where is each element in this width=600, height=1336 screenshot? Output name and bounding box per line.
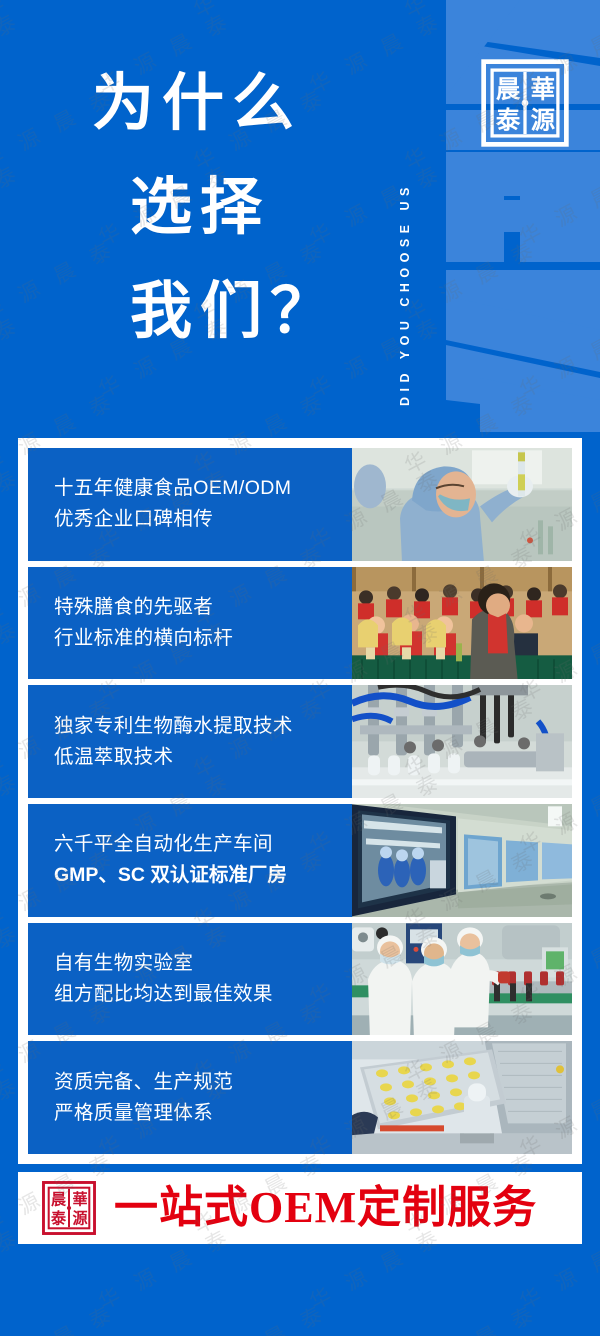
feature-card-text: 资质完备、生产规范 严格质量管理体系	[28, 1041, 352, 1154]
hero-section: 为什么 选择 我们？ DID YOU CHOOSE US 晨 華 泰 源	[0, 0, 600, 432]
feature-line-2: GMP、SC 双认证标准厂房	[54, 860, 340, 891]
feature-line-1: 六千平全自动化生产车间	[54, 829, 340, 860]
feature-line-2: 严格质量管理体系	[54, 1098, 340, 1129]
feature-line-1: 特殊膳食的先驱者	[54, 592, 340, 623]
feature-card[interactable]: 六千平全自动化生产车间 GMP、SC 双认证标准厂房	[28, 804, 572, 917]
svg-text:源: 源	[531, 106, 556, 134]
watermark-text: 华 源 晨 泰	[0, 1296, 122, 1336]
watermark-text: 华 源 晨 泰	[398, 1296, 543, 1336]
svg-text:晨: 晨	[51, 1191, 67, 1209]
feature-line-2: 低温萃取技术	[54, 742, 340, 773]
title-line-2: 选择	[92, 156, 340, 260]
bottom-service-banner: 晨 華 泰 源 一站式OEM定制服务	[18, 1172, 582, 1244]
feature-line-2: 优秀企业口碑相传	[54, 504, 340, 535]
feature-card[interactable]: 特殊膳食的先驱者 行业标准的横向标杆	[28, 567, 572, 680]
svg-text:華: 華	[531, 75, 555, 103]
feature-photo-lab-technician	[352, 448, 572, 561]
banner-seal-logo: 晨 華 泰 源	[40, 1179, 98, 1237]
svg-text:晨: 晨	[496, 76, 521, 103]
svg-text:源: 源	[72, 1210, 87, 1228]
brand-seal-logo: 晨 華 泰 源	[478, 56, 572, 150]
page-title: 为什么 选择 我们？	[92, 52, 340, 364]
feature-card[interactable]: 资质完备、生产规范 严格质量管理体系	[28, 1041, 572, 1154]
feature-photo-conference	[352, 567, 572, 680]
title-line-1: 为什么	[92, 52, 340, 156]
feature-line-1: 独家专利生物酶水提取技术	[54, 711, 340, 742]
svg-text:泰: 泰	[496, 106, 521, 134]
seal-stamp-red-icon: 晨 華 泰 源	[40, 1179, 98, 1237]
feature-photo-cleanroom-corridor	[352, 804, 572, 917]
feature-card-text: 十五年健康食品OEM/ODM 优秀企业口碑相传	[28, 448, 352, 561]
watermark-text: 华 源 晨 泰	[187, 1296, 332, 1336]
svg-text:泰: 泰	[50, 1210, 67, 1228]
watermark-row: 华 源 晨 泰华 源 晨 泰华 源 晨 泰华 源 晨 泰华 源 晨 泰	[0, 1329, 600, 1336]
svg-text:華: 華	[72, 1191, 87, 1209]
feature-card[interactable]: 独家专利生物酶水提取技术 低温萃取技术	[28, 685, 572, 798]
feature-photo-blister-packing	[352, 1041, 572, 1154]
feature-line-2: 组方配比均达到最佳效果	[54, 979, 340, 1010]
poster-root: 为什么 选择 我们？ DID YOU CHOOSE US 晨 華 泰 源	[0, 0, 600, 1336]
feature-line-1: 自有生物实验室	[54, 948, 340, 979]
seal-stamp-icon: 晨 華 泰 源	[478, 56, 572, 150]
features-card-list: 十五年健康食品OEM/ODM 优秀企业口碑相传	[28, 448, 572, 1154]
feature-card-text: 自有生物实验室 组方配比均达到最佳效果	[28, 923, 352, 1036]
feature-card-text: 特殊膳食的先驱者 行业标准的横向标杆	[28, 567, 352, 680]
watermark-row: 华 源 晨 泰华 源 晨 泰华 源 晨 泰华 源 晨 泰华 源 晨 泰	[0, 1253, 600, 1283]
title-line-3: 我们？	[92, 260, 340, 364]
feature-card-text: 独家专利生物酶水提取技术 低温萃取技术	[28, 685, 352, 798]
feature-photo-filling-machine	[352, 685, 572, 798]
feature-line-2: 行业标准的横向标杆	[54, 623, 340, 654]
feature-line-1: 资质完备、生产规范	[54, 1067, 340, 1098]
feature-line-1: 十五年健康食品OEM/ODM	[54, 473, 340, 504]
vertical-english-tagline: DID YOU CHOOSE US	[398, 28, 424, 406]
features-panel: 十五年健康食品OEM/ODM 优秀企业口碑相传	[18, 438, 582, 1164]
feature-card[interactable]: 自有生物实验室 组方配比均达到最佳效果	[28, 923, 572, 1036]
feature-card-text: 六千平全自动化生产车间 GMP、SC 双认证标准厂房	[28, 804, 352, 917]
feature-photo-lab-workers-line	[352, 923, 572, 1036]
feature-card[interactable]: 十五年健康食品OEM/ODM 优秀企业口碑相传	[28, 448, 572, 561]
banner-headline: 一站式OEM定制服务	[114, 1186, 537, 1230]
